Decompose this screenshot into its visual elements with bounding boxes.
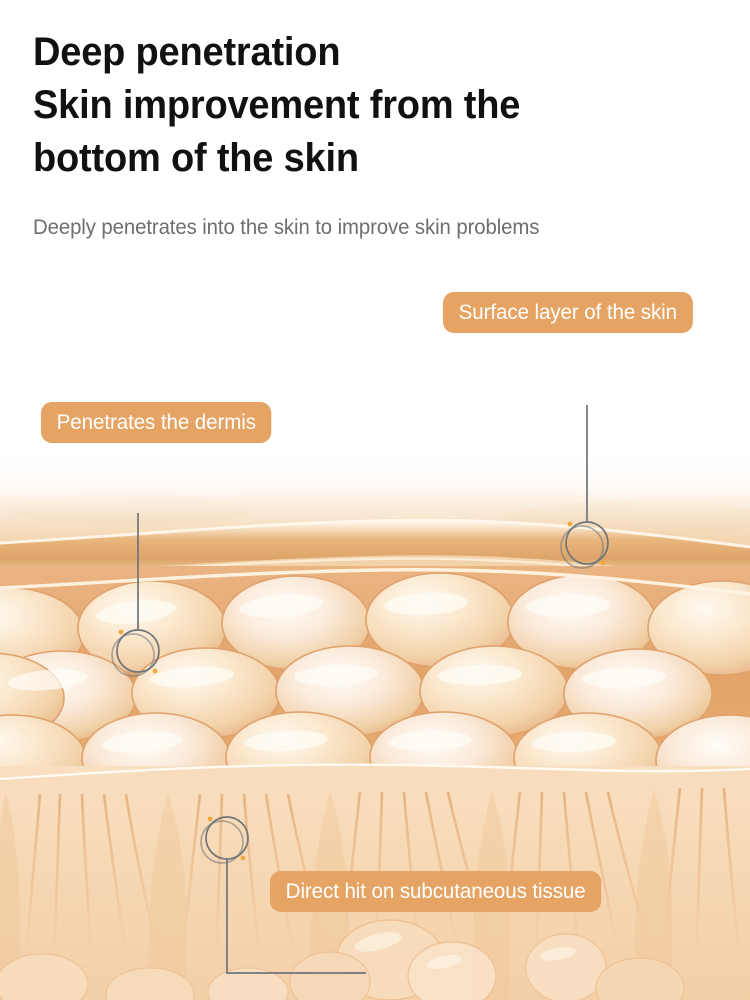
promo-page: Deep penetration Skin improvement from t…: [0, 0, 750, 1000]
callout-badge-subcutaneous[interactable]: Direct hit on subcutaneous tissue: [270, 871, 601, 912]
page-subtitle: Deeply penetrates into the skin to impro…: [33, 214, 702, 242]
page-title: Deep penetration Skin improvement from t…: [33, 26, 679, 185]
callout-badge-dermis[interactable]: Penetrates the dermis: [41, 402, 272, 443]
callout-badge-surface-layer[interactable]: Surface layer of the skin: [443, 292, 693, 333]
skin-cross-section-illustration: [0, 448, 750, 1000]
illustration-top-fade: [0, 448, 750, 540]
